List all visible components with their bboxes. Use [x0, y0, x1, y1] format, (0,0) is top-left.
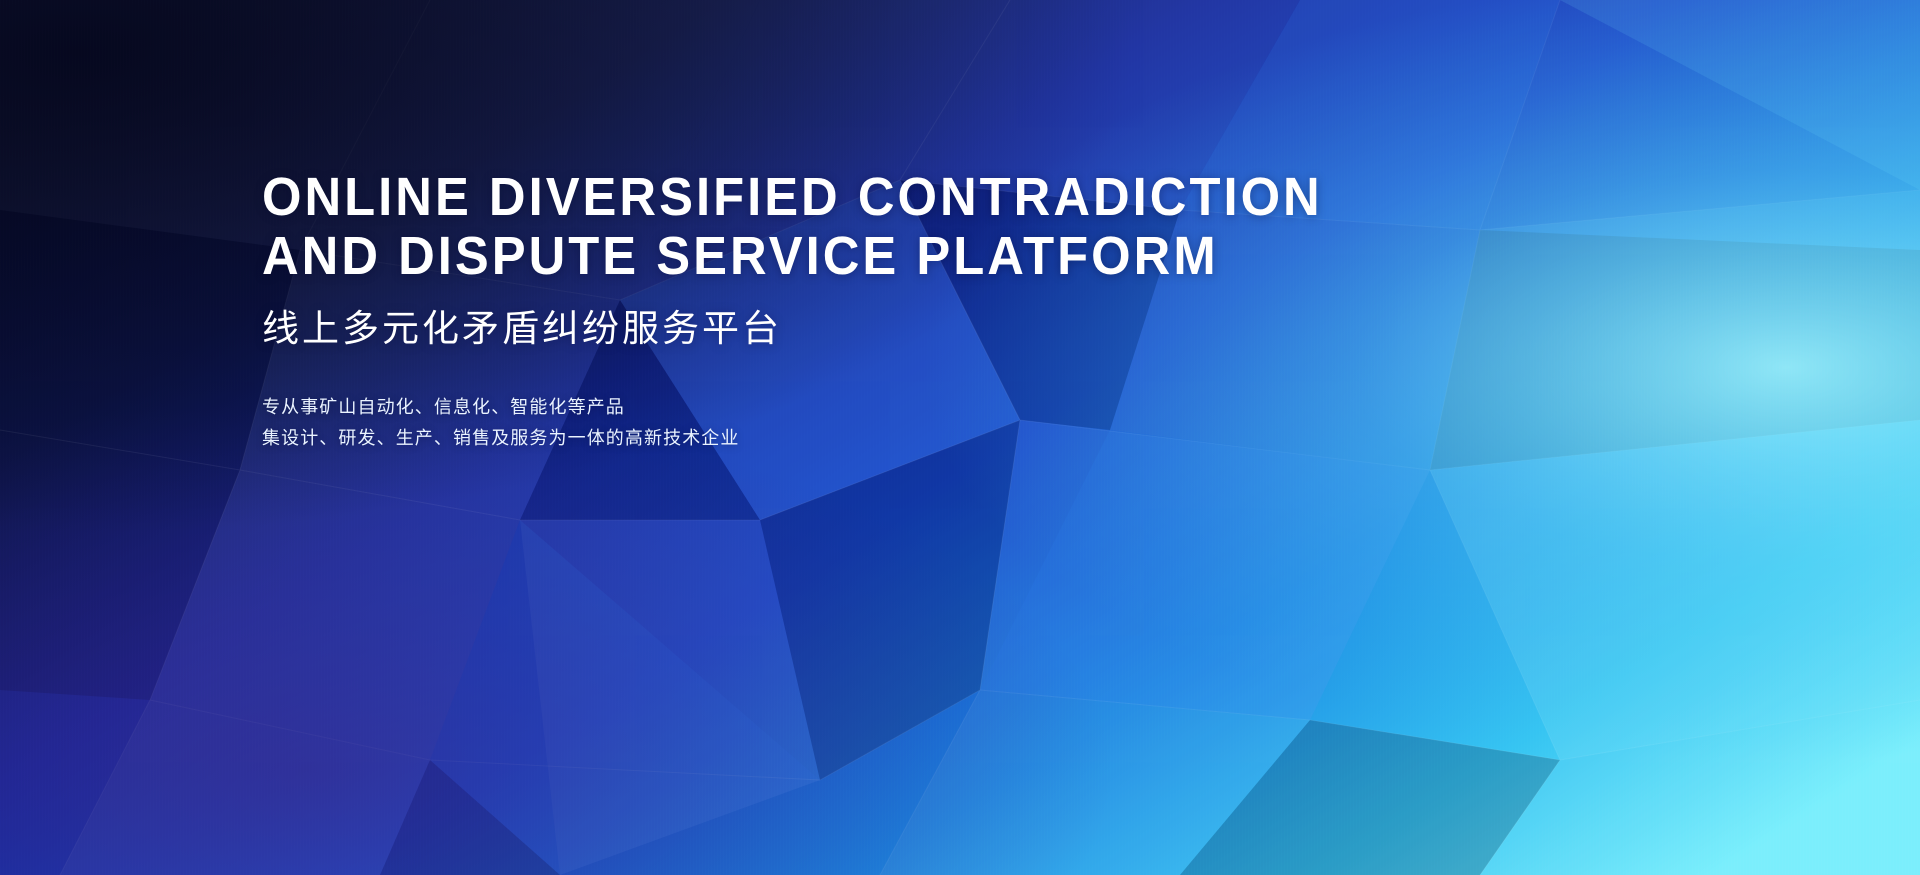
- page-title-line-2: AND DISPUTE SERVICE PLATFORM: [262, 227, 1390, 286]
- page-title-line-1: ONLINE DIVERSIFIED CONTRADICTION: [262, 168, 1390, 227]
- company-description-line-2: 集设计、研发、生产、销售及服务为一体的高新技术企业: [262, 423, 1462, 454]
- hero-content: ONLINE DIVERSIFIED CONTRADICTION AND DIS…: [262, 168, 1462, 454]
- page-subtitle-chinese: 线上多元化矛盾纠纷服务平台: [262, 306, 1462, 352]
- company-description-line-1: 专从事矿山自动化、信息化、智能化等产品: [262, 392, 1462, 423]
- hero-banner: ONLINE DIVERSIFIED CONTRADICTION AND DIS…: [0, 0, 1920, 875]
- company-description: 专从事矿山自动化、信息化、智能化等产品 集设计、研发、生产、销售及服务为一体的高…: [262, 392, 1462, 454]
- page-title: ONLINE DIVERSIFIED CONTRADICTION AND DIS…: [262, 168, 1390, 286]
